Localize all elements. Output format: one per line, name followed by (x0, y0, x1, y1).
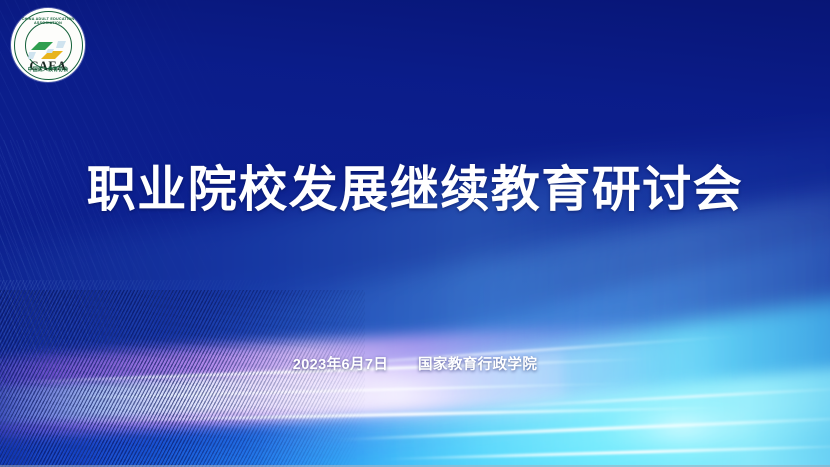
presentation-slide: CHINA ADULT EDUCATION ASSOCIATION CAEA 中… (0, 0, 830, 467)
logo-arc-bottom-text: 中国成人教育协会 (15, 68, 82, 73)
caea-logo: CHINA ADULT EDUCATION ASSOCIATION CAEA 中… (11, 8, 85, 82)
logo-outer-ring: CHINA ADULT EDUCATION ASSOCIATION CAEA 中… (14, 11, 83, 80)
logo-arc-top-text: CHINA ADULT EDUCATION ASSOCIATION (15, 18, 82, 25)
slide-title: 职业院校发展继续教育研讨会 (0, 164, 830, 217)
slide-subtitle: 2023年6月7日 国家教育行政学院 (0, 357, 830, 374)
